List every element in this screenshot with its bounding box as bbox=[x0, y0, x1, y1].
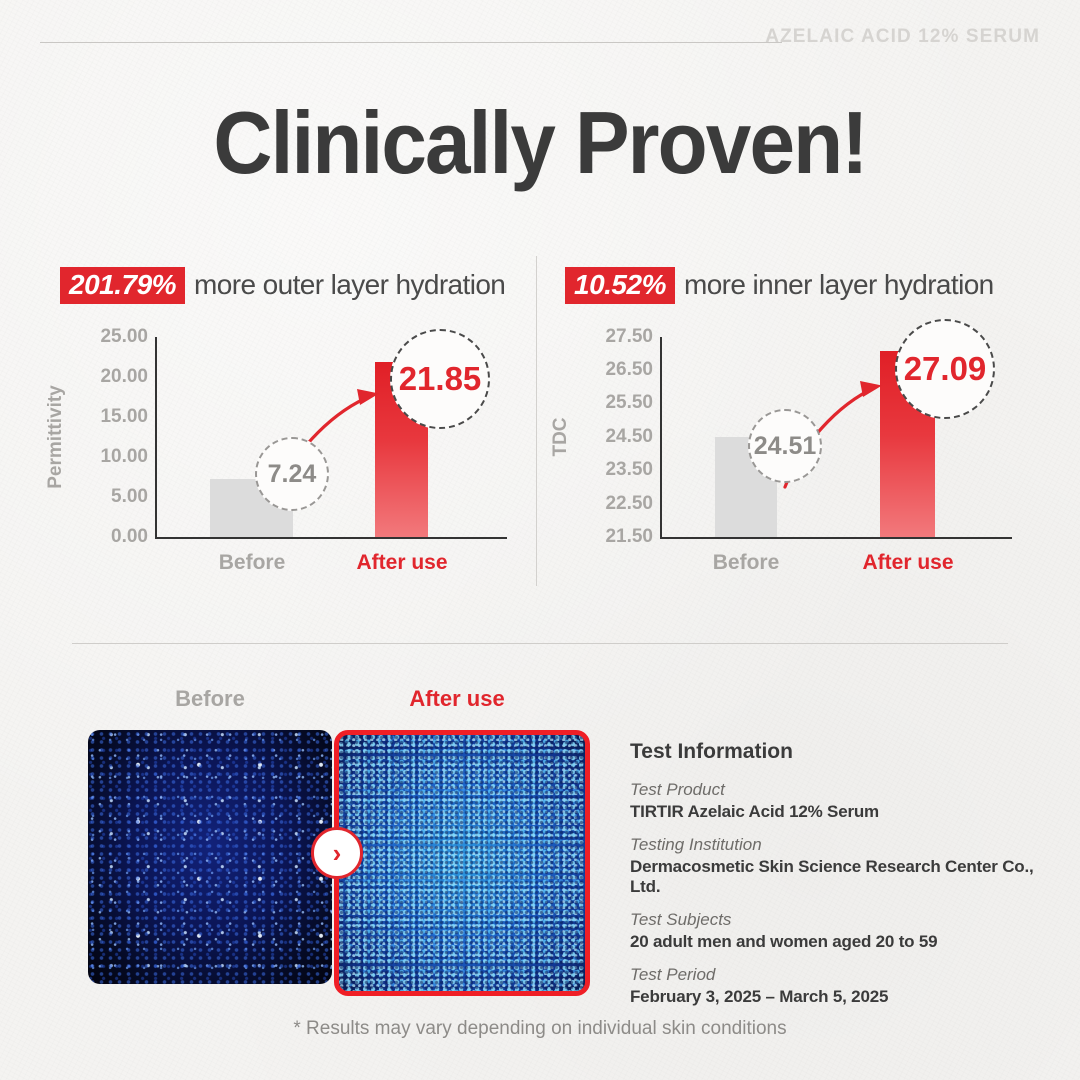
y-tick: 25.00 bbox=[100, 326, 148, 348]
section-horizontal-divider bbox=[72, 643, 1008, 644]
stat-badge-outer: 201.79% bbox=[60, 267, 185, 304]
stat-line-inner: 10.52% more inner layer hydration bbox=[565, 265, 1030, 305]
stat-badge-inner: 10.52% bbox=[565, 267, 675, 304]
value-bubble-before-left: 7.24 bbox=[255, 437, 329, 511]
skin-image-after bbox=[334, 730, 590, 996]
page-title: Clinically Proven! bbox=[38, 99, 1042, 187]
x-label-after-left: After use bbox=[356, 551, 447, 575]
test-information-heading: Test Information bbox=[630, 740, 1050, 764]
test-info-row: Test Product TIRTIR Azelaic Acid 12% Ser… bbox=[630, 780, 1050, 822]
test-info-row: Testing Institution Dermacosmetic Skin S… bbox=[630, 835, 1050, 897]
disclaimer-footnote: * Results may vary depending on individu… bbox=[0, 1018, 1080, 1040]
stat-caption-inner: more inner layer hydration bbox=[684, 269, 994, 301]
test-information-panel: Test Information Test Product TIRTIR Aze… bbox=[630, 740, 1050, 1020]
y-tick: 24.50 bbox=[605, 426, 653, 448]
plot-area-left: 7.24 21.85 Before After use bbox=[155, 337, 507, 539]
y-tick: 0.00 bbox=[111, 526, 148, 548]
test-info-label: Testing Institution bbox=[630, 835, 1050, 855]
x-label-after-right: After use bbox=[862, 551, 953, 575]
value-bubble-after-right: 27.09 bbox=[895, 319, 995, 419]
test-info-value: Dermacosmetic Skin Science Research Cent… bbox=[630, 857, 1050, 897]
bar-chart-tdc: TDC 27.50 26.50 25.50 24.50 23.50 22.50 … bbox=[565, 329, 1030, 579]
chevron-right-icon: › bbox=[311, 827, 363, 879]
y-tick: 21.50 bbox=[605, 526, 653, 548]
chart-panel-outer-hydration: 201.79% more outer layer hydration Permi… bbox=[60, 265, 525, 605]
test-info-value: 20 adult men and women aged 20 to 59 bbox=[630, 932, 1050, 952]
test-info-row: Test Subjects 20 adult men and women age… bbox=[630, 910, 1050, 952]
y-tick: 23.50 bbox=[605, 459, 653, 481]
y-axis-ticks-right: 27.50 26.50 25.50 24.50 23.50 22.50 21.5… bbox=[565, 329, 653, 545]
y-tick: 25.50 bbox=[605, 392, 653, 414]
comparison-caption-before: Before bbox=[175, 686, 245, 712]
test-info-value: February 3, 2025 – March 5, 2025 bbox=[630, 987, 1050, 1007]
y-tick: 5.00 bbox=[111, 486, 148, 508]
y-tick: 26.50 bbox=[605, 359, 653, 381]
stat-caption-outer: more outer layer hydration bbox=[194, 269, 505, 301]
test-info-value: TIRTIR Azelaic Acid 12% Serum bbox=[630, 802, 1050, 822]
skin-image-before bbox=[88, 730, 332, 984]
y-tick: 20.00 bbox=[100, 366, 148, 388]
plot-area-right: 24.51 27.09 Before After use bbox=[660, 337, 1012, 539]
header-divider bbox=[40, 42, 782, 43]
page-header: AZELAIC ACID 12% SERUM bbox=[0, 26, 1080, 62]
panel-vertical-divider bbox=[536, 256, 537, 586]
value-bubble-before-right: 24.51 bbox=[748, 409, 822, 483]
test-info-row: Test Period February 3, 2025 – March 5, … bbox=[630, 965, 1050, 1007]
chart-panel-inner-hydration: 10.52% more inner layer hydration TDC 27… bbox=[565, 265, 1030, 605]
value-bubble-after-left: 21.85 bbox=[390, 329, 490, 429]
product-label: AZELAIC ACID 12% SERUM bbox=[765, 26, 1040, 48]
comparison-caption-after: After use bbox=[409, 686, 504, 712]
speckle-layer bbox=[88, 730, 332, 984]
bar-chart-permittivity: Permittivity 25.00 20.00 15.00 10.00 5.0… bbox=[60, 329, 525, 579]
y-tick: 10.00 bbox=[100, 446, 148, 468]
y-tick: 15.00 bbox=[100, 406, 148, 428]
y-tick: 27.50 bbox=[605, 326, 653, 348]
y-tick: 22.50 bbox=[605, 493, 653, 515]
test-info-label: Test Product bbox=[630, 780, 1050, 800]
speckle-layer bbox=[339, 735, 585, 991]
stat-line-outer: 201.79% more outer layer hydration bbox=[60, 265, 525, 305]
test-info-label: Test Subjects bbox=[630, 910, 1050, 930]
x-label-before-right: Before bbox=[713, 551, 780, 575]
x-label-before-left: Before bbox=[219, 551, 286, 575]
test-info-label: Test Period bbox=[630, 965, 1050, 985]
y-axis-ticks-left: 25.00 20.00 15.00 10.00 5.00 0.00 bbox=[60, 329, 148, 545]
